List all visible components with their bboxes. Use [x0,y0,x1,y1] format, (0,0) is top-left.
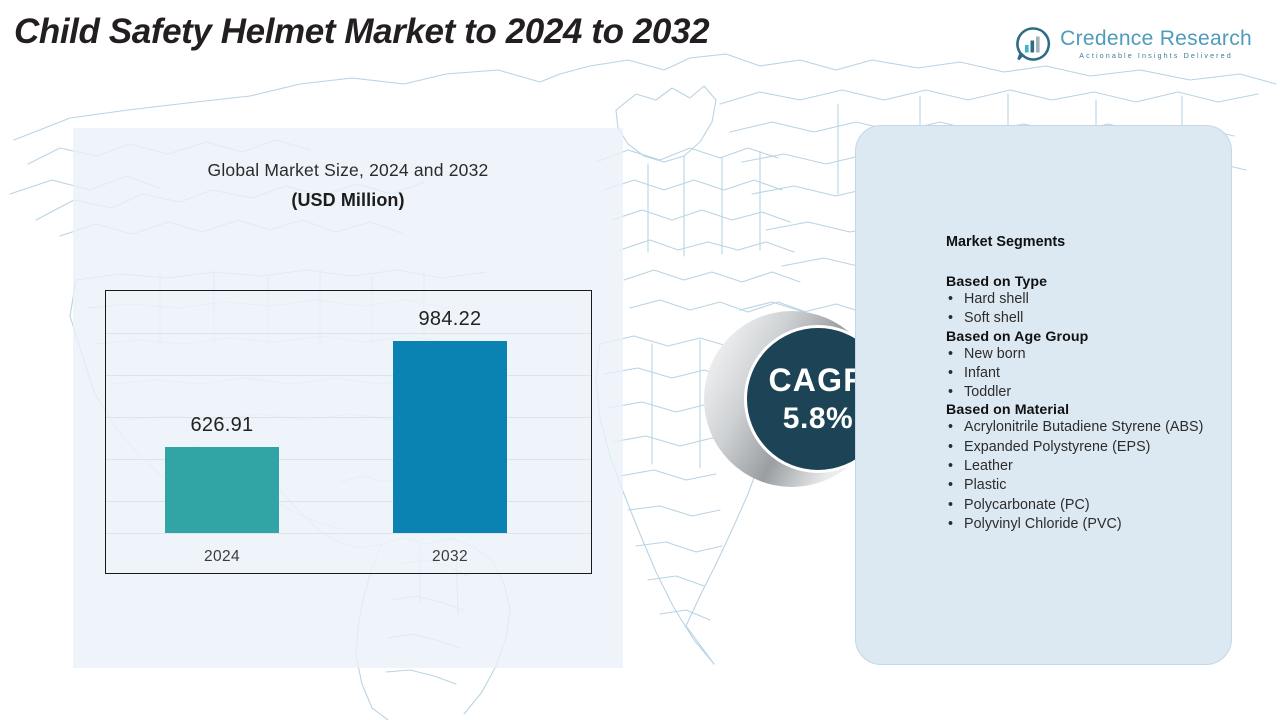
list-item: • Plastic [946,476,1218,495]
bar-chart-circle-icon [1015,26,1051,62]
list-item-label: Plastic [964,477,1006,493]
segment-group-type: Based on Type • Hard shell • Soft shell [946,274,1218,329]
segment-group-material: Based on Material • Acrylonitrile Butadi… [946,402,1218,534]
list-item: • Infant [946,364,1218,383]
list-item: • Polycarbonate (PC) [946,496,1218,515]
list-item: • New born [946,345,1218,364]
bar-category-label-2024: 2024 [150,548,294,566]
list-item-label: New born [964,346,1026,362]
bar-value-label-2032: 984.22 [378,308,522,331]
bullet-icon: • [948,457,953,476]
list-item-label: Leather [964,458,1013,474]
chart-title-units: (USD Million) [73,190,623,211]
segment-item-list: • New born • Infant • Toddler [946,345,1218,403]
brand-name: Credence Research [1060,28,1252,49]
list-item: • Expanded Polystyrene (EPS) [946,438,1218,457]
list-item-label: Expanded Polystyrene (EPS) [964,439,1150,455]
bar-category-label-2032: 2032 [378,548,522,566]
bar-2024[interactable] [165,447,279,533]
list-item-label: Polyvinyl Chloride (PVC) [964,516,1122,532]
list-item: • Polyvinyl Chloride (PVC) [946,515,1218,534]
bullet-icon: • [948,515,953,534]
list-item-label: Hard shell [964,291,1029,307]
bullet-icon: • [948,438,953,457]
list-item-label: Infant [964,365,1000,381]
bullet-icon: • [948,476,953,495]
bar-2032[interactable] [393,341,507,533]
bullet-icon: • [948,383,953,402]
page-title: Child Safety Helmet Market to 2024 to 20… [14,12,709,52]
bullet-icon: • [948,345,953,364]
list-item-label: Soft shell [964,310,1023,326]
list-item: • Toddler [946,383,1218,402]
cagr-label: CAGR [768,364,867,396]
bullet-icon: • [948,290,953,309]
list-item-label: Toddler [964,384,1011,400]
bullet-icon: • [948,496,953,515]
segment-item-list: • Hard shell • Soft shell [946,290,1218,329]
gridline [106,533,591,534]
brand-tagline: Actionable Insights Delivered [1060,52,1252,59]
list-item-label: Polycarbonate (PC) [964,497,1090,513]
gridline [106,333,591,334]
segment-heading: Based on Age Group [946,329,1218,345]
bullet-icon: • [948,364,953,383]
bar-value-label-2024: 626.91 [150,414,294,437]
list-item: • Acrylonitrile Butadiene Styrene (ABS) [946,418,1218,437]
list-item: • Leather [946,457,1218,476]
bullet-icon: • [948,309,953,328]
segment-item-list: • Acrylonitrile Butadiene Styrene (ABS) … [946,418,1218,534]
gridline [106,375,591,376]
list-item: • Hard shell [946,290,1218,309]
segment-heading: Based on Type [946,274,1218,290]
list-item: • Soft shell [946,309,1218,328]
brand-logo: Credence Research Actionable Insights De… [1015,26,1252,62]
brand-text: Credence Research Actionable Insights De… [1060,28,1252,59]
bullet-icon: • [948,418,953,437]
chart-title-primary: Global Market Size, 2024 and 2032 [73,160,623,181]
market-segments: Market Segments Based on Type • Hard she… [946,234,1218,534]
cagr-value: 5.8% [783,404,853,434]
list-item-label: Acrylonitrile Butadiene Styrene (ABS) [964,419,1203,435]
segment-heading: Based on Material [946,402,1218,418]
infographic-page: Child Safety Helmet Market to 2024 to 20… [0,0,1280,720]
segments-title: Market Segments [946,234,1218,250]
bar-chart-plot-area: 626.91 2024 984.22 2032 [105,290,592,574]
segment-group-age: Based on Age Group • New born • Infant •… [946,329,1218,403]
